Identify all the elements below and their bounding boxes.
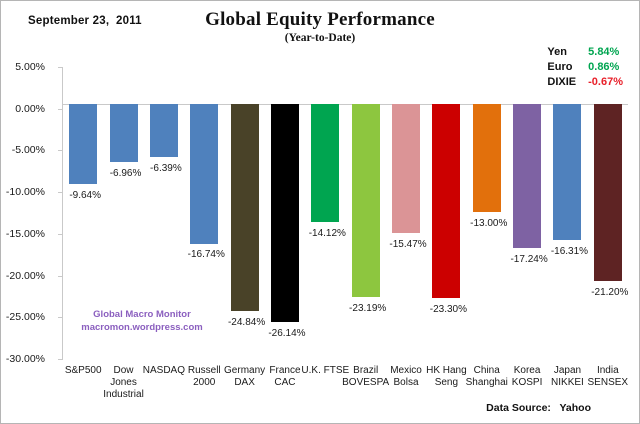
bar-value-label: -23.30%: [420, 304, 476, 315]
y-axis-tick: [58, 234, 63, 235]
y-axis-tick: [58, 67, 63, 68]
y-axis-tick-label: -5.00%: [0, 145, 45, 155]
bar[interactable]: [392, 104, 420, 233]
bar-value-label: -13.00%: [461, 218, 517, 229]
bar[interactable]: [190, 104, 218, 244]
y-axis-tick-label: 5.00%: [0, 62, 45, 72]
y-axis-tick: [58, 359, 63, 360]
bar[interactable]: [150, 104, 178, 157]
bar-slot: -16.31%: [553, 67, 581, 359]
y-axis-tick: [58, 276, 63, 277]
chart-subtitle: (Year-to-Date): [1, 32, 639, 44]
bar-value-label: -15.47%: [380, 239, 436, 250]
y-axis-tick-label: 0.00%: [0, 104, 45, 114]
bar-value-label: -21.20%: [582, 287, 638, 298]
bar-slot: -15.47%: [392, 67, 420, 359]
bar-value-label: -9.64%: [57, 190, 113, 201]
bar-slot: -26.14%: [271, 67, 299, 359]
bar-slot: -14.12%: [311, 67, 339, 359]
y-axis-tick: [58, 109, 63, 110]
bar-value-label: -16.74%: [178, 249, 234, 260]
page-title: Global Equity Performance: [1, 9, 639, 31]
currency-name: Yen: [547, 46, 588, 61]
chart-canvas: September 23, 2011 Global Equity Perform…: [0, 0, 640, 424]
bar-value-label: -16.31%: [541, 246, 597, 257]
bar-slot: -17.24%: [513, 67, 541, 359]
bar[interactable]: [594, 104, 622, 281]
data-source-note: Data Source: Yahoo: [486, 402, 591, 414]
y-axis-tick-label: -15.00%: [0, 229, 45, 239]
watermark: Global Macro Monitor macromon.wordpress.…: [67, 308, 217, 334]
bar[interactable]: [311, 104, 339, 222]
bar-value-label: -26.14%: [259, 328, 315, 339]
y-axis-tick-label: -30.00%: [0, 354, 45, 364]
y-axis-tick-label: -25.00%: [0, 312, 45, 322]
bar-slot: -24.84%: [231, 67, 259, 359]
bar-slot: -13.00%: [473, 67, 501, 359]
bar-value-label: -14.12%: [299, 228, 355, 239]
bar[interactable]: [432, 104, 460, 298]
y-axis-tick-label: -20.00%: [0, 271, 45, 281]
currency-value: 5.84%: [588, 46, 623, 61]
category-label: India SENSEX: [580, 365, 636, 389]
bar[interactable]: [352, 104, 380, 297]
y-axis-tick: [58, 317, 63, 318]
bar[interactable]: [231, 104, 259, 311]
watermark-line-1: Global Macro Monitor: [67, 308, 217, 321]
watermark-line-2: macromon.wordpress.com: [67, 321, 217, 334]
bar[interactable]: [69, 104, 97, 184]
bar-value-label: -6.39%: [138, 163, 194, 174]
bar-slot: -23.30%: [432, 67, 460, 359]
bar[interactable]: [553, 104, 581, 240]
currency-legend-row: Yen5.84%: [547, 46, 623, 61]
bar-value-label: -23.19%: [340, 303, 396, 314]
bar[interactable]: [473, 104, 501, 212]
category-axis-line: [62, 104, 628, 105]
value-axis-line: [62, 67, 63, 359]
y-axis-tick: [58, 150, 63, 151]
bar[interactable]: [110, 104, 138, 162]
bar-slot: -21.20%: [594, 67, 622, 359]
bar-slot: -23.19%: [352, 67, 380, 359]
bar[interactable]: [513, 104, 541, 248]
bar[interactable]: [271, 104, 299, 322]
bar-value-label: -24.84%: [219, 317, 275, 328]
y-axis-tick-label: -10.00%: [0, 187, 45, 197]
